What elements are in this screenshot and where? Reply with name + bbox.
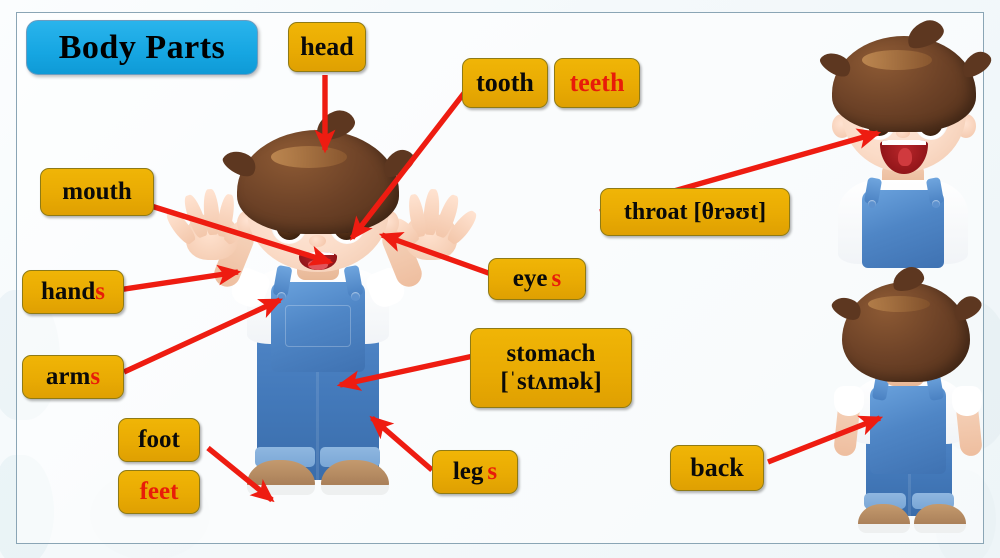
label-eyes-stem: eye xyxy=(513,265,548,293)
label-arms[interactable]: arms xyxy=(22,355,124,399)
figure-sole-right xyxy=(321,485,389,495)
label-feet-text: feet xyxy=(140,478,179,506)
slide-canvas: Body Parts head tooth teeth mouth throat… xyxy=(0,0,1000,558)
label-mouth[interactable]: mouth xyxy=(40,168,154,216)
figure-boy-face-openmouth xyxy=(810,28,1000,268)
label-tooth[interactable]: tooth xyxy=(462,58,548,108)
label-stomach-ipa: [ˈstʌmək] xyxy=(500,368,601,396)
label-hands-plural: s xyxy=(95,278,105,306)
label-back[interactable]: back xyxy=(670,445,764,491)
page-title: Body Parts xyxy=(26,20,258,75)
label-legs-stem: leg xyxy=(453,458,484,486)
label-feet[interactable]: feet xyxy=(118,470,200,514)
figure-overall-button-left xyxy=(277,292,286,301)
label-hands-stem: hand xyxy=(41,278,95,306)
figure-boy-back-view xyxy=(818,278,998,553)
figure-sole-left xyxy=(247,485,315,495)
label-teeth[interactable]: teeth xyxy=(554,58,640,108)
figure-leg-split xyxy=(316,355,319,480)
label-arms-stem: arm xyxy=(46,363,90,391)
label-legs-plural: s xyxy=(483,458,497,486)
figure-hand-right xyxy=(389,178,473,262)
label-eyes[interactable]: eyes xyxy=(488,258,586,300)
label-legs[interactable]: legs xyxy=(432,450,518,494)
label-throat[interactable]: throat [θrəʊt] xyxy=(600,188,790,236)
label-stomach[interactable]: stomach [ˈstʌmək] xyxy=(470,328,632,408)
label-stomach-word: stomach xyxy=(507,340,596,368)
figure-hair-highlight xyxy=(271,146,347,168)
label-arms-plural: s xyxy=(90,363,100,391)
label-eyes-plural: s xyxy=(547,265,561,293)
label-teeth-text: teeth xyxy=(570,68,625,97)
label-foot[interactable]: foot xyxy=(118,418,200,462)
label-head[interactable]: head xyxy=(288,22,366,72)
label-hands[interactable]: hands xyxy=(22,270,124,314)
figure-overall-button-right xyxy=(351,292,360,301)
figure-bib-pocket xyxy=(285,305,351,347)
figure-nose xyxy=(309,235,326,247)
